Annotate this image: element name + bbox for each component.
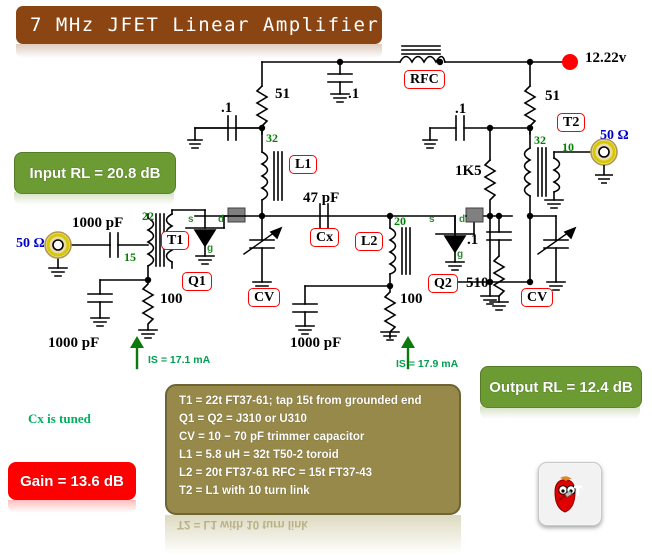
note-line: Q1 = Q2 = J310 or U310: [167, 410, 459, 428]
bias-1k5-resistor-label: 1K5: [455, 163, 482, 180]
q2-drain-51-resistor-label: 51: [545, 88, 560, 105]
page-title-text: 7 MHz JFET Linear Amplifier: [16, 14, 379, 36]
refdes-cx: Cx: [310, 228, 339, 247]
q1-source-current-label: IS = 17.1 mA: [148, 354, 210, 366]
page-title: 7 MHz JFET Linear Amplifier: [16, 6, 382, 44]
t1-primary-turns-label: 22: [142, 209, 154, 224]
cx-tuned-note: Cx is tuned: [28, 411, 91, 427]
t2-link-turns-label: 10: [562, 140, 574, 155]
refdes-cv2: CV: [521, 288, 553, 307]
note-line: T1 = 22t FT37-61; tap 15t from grounded …: [167, 392, 459, 410]
note-line: T2 = L1 with 10 turn link: [167, 482, 459, 500]
mascot-icon: [539, 463, 601, 525]
q1-source-bypass-cap-label: 1000 pF: [48, 335, 99, 352]
input-port-impedance-label: 50 Ω: [16, 236, 45, 252]
q2-gate-pin-label: g: [457, 249, 463, 260]
refdes-l2: L2: [355, 232, 383, 251]
output-return-loss-badge: Output RL = 12.4 dB: [480, 366, 642, 408]
t1-tap-turns-label: 15: [124, 250, 136, 265]
refdes-q2: Q2: [428, 274, 458, 293]
refdes-q1: Q1: [182, 272, 212, 291]
q2-source-bypass-cap-label: 1000 pF: [290, 335, 341, 352]
output-port-impedance-label: 50 Ω: [600, 128, 629, 144]
l1-turns-label: 32: [266, 131, 278, 146]
cap-point1-a-label: .1: [221, 100, 232, 117]
q2-source-pin-label: s: [429, 214, 435, 225]
q2-drain-pin-label: d: [459, 214, 465, 225]
cap-point1-d-label: .1: [467, 232, 478, 249]
q1-source-pin-label: s: [188, 214, 194, 225]
refdes-l1: L1: [289, 155, 317, 174]
input-coupling-cap-label: 1000 pF: [72, 215, 123, 232]
cap-point1-b-label: .1: [348, 86, 359, 103]
note-line: L2 = 20t FT37-61 RFC = 15t FT37-43: [167, 464, 459, 482]
refdes-rfc: RFC: [404, 70, 445, 89]
site-logo: [538, 462, 602, 526]
cx-value-label: 47 pF: [303, 190, 339, 207]
page-title-reflection: [16, 44, 382, 58]
refdes-t2: T2: [557, 113, 585, 132]
l2-turns-label: 20: [394, 214, 406, 229]
refdes-cv1: CV: [248, 288, 280, 307]
supply-voltage-label: 12.22v: [585, 50, 626, 67]
q1-gate-pin-label: g: [207, 243, 213, 254]
note-line: CV = 10 − 70 pF trimmer capacitor: [167, 428, 459, 446]
q2-source-resistor-label: 100: [400, 291, 423, 308]
refdes-t1: T1: [161, 231, 189, 250]
q1-drain-pin-label: d: [218, 214, 224, 225]
schematic-canvas: 7 MHz JFET Linear Amplifier Input RL = 2…: [0, 0, 652, 555]
component-notes-box: T1 = 22t FT37-61; tap 15t from grounded …: [165, 384, 461, 515]
q1-drain-51-resistor-label: 51: [275, 86, 290, 103]
input-return-loss-badge: Input RL = 20.8 dB: [14, 152, 176, 194]
q2-source-current-label: IS = 17.9 mA: [396, 358, 458, 370]
supply-terminal-dot: [562, 54, 578, 70]
cap-point1-c-label: .1: [455, 101, 466, 118]
gain-badge: Gain = 13.6 dB: [8, 462, 136, 500]
gain-text: Gain = 13.6 dB: [20, 473, 124, 490]
q1-source-resistor-label: 100: [160, 291, 183, 308]
note-line: L1 = 5.8 uH = 32t T50-2 toroid: [167, 446, 459, 464]
t2-primary-turns-label: 32: [534, 133, 546, 148]
input-return-loss-text: Input RL = 20.8 dB: [30, 165, 161, 182]
bias-510-resistor-label: 510: [466, 275, 489, 292]
output-return-loss-text: Output RL = 12.4 dB: [489, 379, 633, 396]
